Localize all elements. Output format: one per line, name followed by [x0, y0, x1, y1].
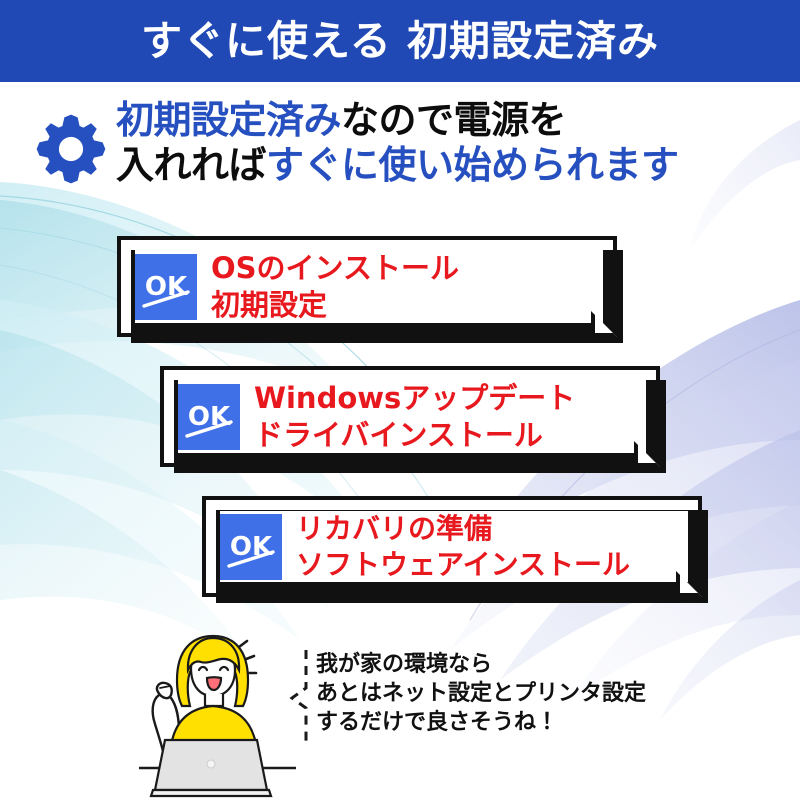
mouth	[207, 677, 221, 690]
speech-line-2: あとはネット設定とプリンタ設定	[316, 679, 646, 708]
checklist-item-3: OK リカバリの準備 ソフトウェアインストール	[202, 496, 702, 597]
checklist-item-1-line-1: OSのインストール	[211, 251, 459, 285]
headline-section: 初期設定済みなので電源を 入れればすぐに使い始められます	[0, 98, 800, 208]
checklist-item-3-content: OK リカバリの準備 ソフトウェアインストール	[220, 511, 688, 582]
checklist-item-2-content: OK Windowsアップデート ドライバインストール	[178, 380, 646, 453]
checklist-item-1: OK OSのインストール 初期設定	[117, 236, 617, 337]
headline-line-1: 初期設定済みなので電源を	[116, 98, 800, 143]
headline-text: 初期設定済みなので電源を 入れればすぐに使い始められます	[116, 98, 800, 188]
gear-icon	[32, 110, 110, 192]
speech-line-3: するだけで良さそうね！	[316, 708, 646, 737]
checklist-item-3-line-1: リカバリの準備	[296, 512, 492, 545]
laptop-base	[151, 790, 271, 796]
checklist-item-1-line-2: 初期設定	[211, 287, 603, 324]
checklist-item-2-line-2: ドライバインストール	[254, 417, 646, 454]
checklist-item-2: OK Windowsアップデート ドライバインストール	[160, 366, 660, 467]
checklist-item-1-content: OK OSのインストール 初期設定	[135, 250, 603, 323]
headline-line-2: 入れればすぐに使い始められます	[116, 143, 800, 188]
folded-corner	[634, 441, 660, 467]
checklist-item-3-text: リカバリの準備 ソフトウェアインストール	[296, 511, 688, 582]
speech-bubble: 我が家の環境なら あとはネット設定とプリンタ設定 するだけで良さそうね！	[288, 648, 646, 752]
ok-badge-icon: OK	[220, 514, 282, 580]
speech-text: 我が家の環境なら あとはネット設定とプリンタ設定 するだけで良さそうね！	[316, 648, 646, 752]
headline-line-2-emphasis: すぐに使い始められます	[266, 143, 679, 187]
speech-bracket-icon	[288, 648, 310, 752]
checklist-item-1-text: OSのインストール 初期設定	[211, 250, 603, 323]
woman-at-laptop-illustration	[135, 628, 300, 798]
checklist-item-2-line-1: Windowsアップデート	[254, 381, 575, 415]
headline-line-1-rest: なので電源を	[341, 98, 566, 142]
headline-line-1-emphasis: 初期設定済み	[116, 98, 341, 142]
checklist-item-2-text: Windowsアップデート ドライバインストール	[254, 380, 646, 453]
speech-line-1: 我が家の環境なら	[316, 650, 646, 679]
infographic-page: すぐに使える 初期設定済み 初期設定済みなので電源を 入れればすぐに使い始められ…	[0, 0, 800, 800]
ok-badge-icon: OK	[135, 254, 197, 320]
folded-corner	[591, 311, 617, 337]
headline-line-2-lead: 入れれば	[116, 143, 266, 187]
ok-badge-icon: OK	[178, 384, 240, 450]
checklist-item-3-line-2: ソフトウェアインストール	[296, 547, 688, 582]
banner-title: すぐに使える 初期設定済み	[141, 21, 659, 62]
header-banner: すぐに使える 初期設定済み	[0, 0, 800, 82]
folded-corner	[676, 571, 702, 597]
